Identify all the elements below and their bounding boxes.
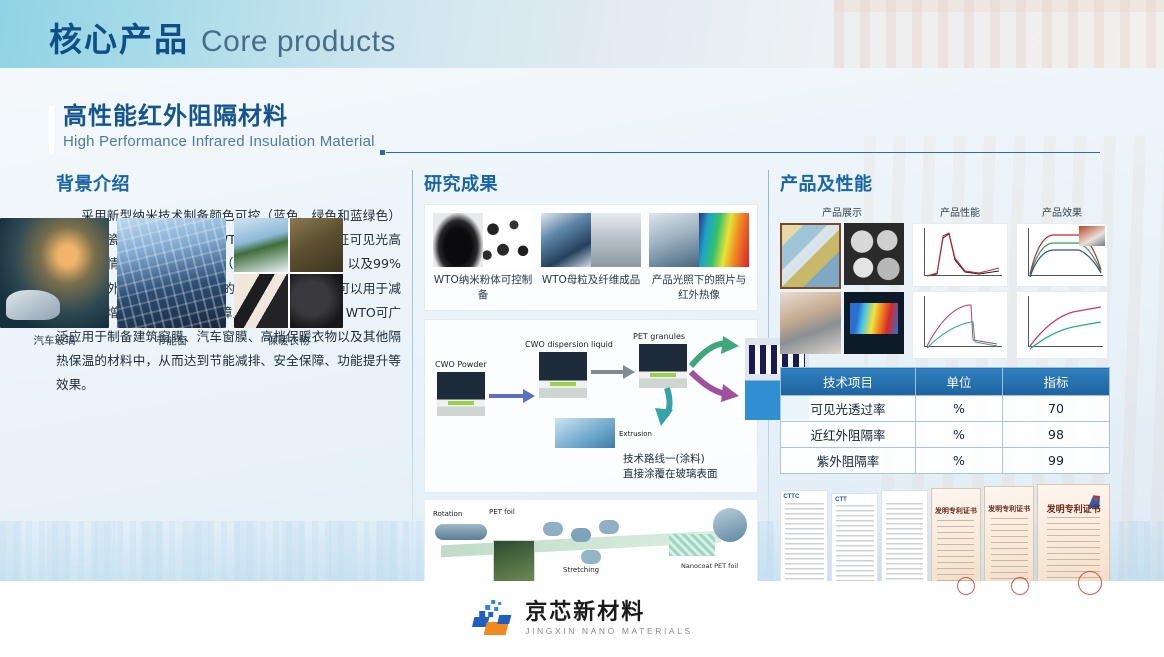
flow-arrow-2	[591, 364, 635, 380]
logo-pixel	[498, 602, 501, 605]
warm-clothing-photo	[234, 218, 343, 328]
logo-text-en: JINGXIN NANO MATERIALS	[525, 626, 693, 636]
sleeve-demo-photo	[780, 292, 841, 354]
right-top-row: 产品展示 产品性能	[780, 204, 1110, 359]
car-glass-photo	[0, 218, 109, 328]
flow-label-pet-granules: PET granules	[633, 332, 685, 341]
header-title-group: 核心产品 Core products	[49, 13, 396, 61]
patent-title: 发明专利证书	[985, 504, 1033, 514]
right-column: 产品及性能 产品展示 产品性能	[780, 170, 1110, 608]
table-cell-value: 99	[1003, 448, 1110, 474]
roller-3	[571, 528, 591, 542]
logo-pixel	[494, 607, 498, 611]
infrared-thermal-thumb	[699, 213, 749, 267]
logo-pixel	[491, 600, 495, 604]
route1-label-group: 技术路线一(涂料) 直接涂覆在玻璃表面	[623, 452, 749, 482]
slide: 核心产品 Core products 高性能红外阻隔材料 High Perfor…	[0, 0, 1164, 657]
logo-mark-icon	[471, 600, 515, 636]
product-effect-block: 产品效果	[1016, 204, 1108, 359]
result-caption: 产品光照下的照片与红外热像	[649, 272, 749, 302]
take-up-roll	[713, 508, 747, 542]
effect-chart-2	[1016, 291, 1108, 359]
result-item-masterbatch: WTO母粒及纤维成品	[541, 213, 641, 302]
table-header-row: 技术项目 单位 指标	[781, 368, 1110, 396]
table-row: 近红外阻隔率 % 98	[781, 422, 1110, 448]
result-caption: WTO母粒及纤维成品	[541, 272, 641, 287]
table-cell-unit: %	[916, 396, 1003, 422]
result-caption: WTO纳米粉体可控制备	[433, 272, 533, 302]
table-cell-item: 紫外阻隔率	[781, 448, 916, 474]
colored-glass-samples-photo	[780, 223, 841, 289]
subcaption-performance: 产品性能	[912, 204, 1008, 219]
clothing-snowboard-thumb	[234, 218, 288, 272]
table-row: 紫外阻隔率 % 99	[781, 448, 1110, 474]
extrusion-photo	[555, 418, 615, 448]
table-row: 可见光透过率 % 70	[781, 396, 1110, 422]
patent-title: 发明专利证书	[1038, 502, 1109, 515]
effect-inset-photo	[1079, 226, 1105, 246]
photo-caption: 节能窗	[117, 333, 226, 348]
route1-subtitle: 直接涂覆在玻璃表面	[623, 468, 718, 480]
clothing-gloves-thumb	[290, 274, 344, 328]
section-title-group: 高性能红外阻隔材料 High Performance Infrared Insu…	[49, 104, 375, 150]
photo-item-car-glass: 汽车玻璃	[0, 218, 109, 348]
flow-label-extrusion: Extrusion	[619, 430, 652, 438]
wto-powder-photo	[433, 213, 533, 267]
table-cell-value: 98	[1003, 422, 1110, 448]
flow-arrow-purple-down	[689, 368, 741, 402]
result-item-powder: WTO纳米粉体可控制备	[433, 213, 533, 302]
research-results-panel: WTO纳米粉体可控制备 WTO母粒及纤维成品 产品光照下的照片与红外热像	[424, 204, 758, 311]
flow-arrow-teal-down	[647, 386, 687, 428]
column-divider-1	[412, 170, 413, 562]
roller-1	[435, 524, 487, 540]
flow-label-nanocoat: Nanocoat PET foil	[681, 562, 738, 570]
roller-4	[599, 520, 619, 534]
flow-label-pet-foil: PET foil	[489, 508, 515, 516]
nanocoat-detail	[669, 534, 715, 556]
official-seal-icon	[1078, 571, 1102, 595]
right-column-heading: 产品及性能	[780, 170, 1110, 196]
fiber-samples-photo	[844, 223, 905, 285]
clothing-legwarmer-thumb	[234, 274, 288, 328]
left-column-heading: 背景介绍	[56, 170, 401, 196]
photo-item-warm-clothing: 保暖衣物	[234, 218, 343, 348]
logo-block-blue-2	[497, 615, 511, 624]
subcaption-effect: 产品效果	[1016, 204, 1108, 219]
table-header-cell: 指标	[1003, 368, 1110, 396]
photo-caption: 汽车玻璃	[0, 333, 109, 348]
fiber-roll-thumb	[591, 213, 641, 267]
flow-label-dispersion: CWO dispersion liquid	[525, 340, 613, 349]
table-cell-value: 70	[1003, 396, 1110, 422]
product-performance-block: 产品性能	[912, 204, 1008, 359]
process-flow-panel: CWO Powder CWO dispersion liquid PET gra…	[424, 319, 758, 493]
flow-arrow-green-up	[689, 336, 741, 370]
section-accent-bar	[49, 106, 54, 154]
header-title-cn: 核心产品	[49, 13, 189, 61]
chart-series-paths	[913, 292, 1008, 358]
left-photo-strip: 汽车玻璃 节能窗 保暖衣物	[0, 218, 345, 348]
roller-5	[581, 550, 601, 564]
flow-label-cwo-powder: CWO Powder	[435, 360, 487, 369]
performance-data-table: 技术项目 单位 指标 可见光透过率 % 70 近红外阻隔率 % 98 紫外阻隔率	[780, 367, 1110, 474]
thermal-camera-photo	[844, 292, 905, 354]
clothing-jacket-thumb	[290, 218, 344, 272]
middle-column-heading: 研究成果	[424, 170, 758, 196]
chart-series-paths	[1017, 292, 1108, 358]
slide-header: 核心产品 Core products	[0, 0, 1164, 68]
table-header-cell: 技术项目	[781, 368, 916, 396]
subcaption-showcase: 产品展示	[780, 204, 904, 219]
table-cell-unit: %	[916, 422, 1003, 448]
roller-2	[543, 522, 563, 536]
wto-masterbatch-photo	[541, 213, 641, 267]
section-divider-rule	[386, 152, 1100, 153]
performance-chart-2	[912, 291, 1008, 359]
film-line-diagram: Rotation PET foil Stretching Nanocoat PE…	[431, 506, 751, 584]
energy-window-photo	[117, 218, 226, 328]
section-title-cn: 高性能红外阻隔材料	[63, 104, 375, 130]
route1-title: 技术路线一(涂料)	[623, 453, 705, 465]
header-watermark-columns	[834, 0, 1164, 68]
table-header-cell: 单位	[916, 368, 1003, 396]
section-title-en: High Performance Infrared Insulation Mat…	[63, 133, 375, 150]
product-showcase-block: 产品展示	[780, 204, 904, 359]
table-cell-unit: %	[916, 448, 1003, 474]
logo-text-group: 京芯新材料 JINGXIN NANO MATERIALS	[525, 601, 693, 636]
powder-dish-thumb	[433, 213, 483, 267]
masterbatch-bag-thumb	[541, 213, 591, 267]
logo-pixel	[485, 605, 490, 610]
cttc-logo: CTTC	[783, 494, 799, 500]
photo-item-energy-window: 节能窗	[117, 218, 226, 348]
chart-series-paths	[913, 224, 1008, 286]
ctt-logo: CTT	[835, 497, 847, 503]
flow-arrow-1	[489, 388, 535, 404]
cwo-dispersion-photo	[539, 352, 587, 398]
visible-light-thumb	[649, 213, 699, 267]
logo-text-cn: 京芯新材料	[525, 601, 693, 623]
table-cell-item: 可见光透过率	[781, 396, 916, 422]
patent-title: 发明专利证书	[932, 506, 980, 516]
cwo-powder-photo	[437, 372, 485, 416]
official-seal-icon	[1011, 577, 1029, 595]
effect-chart-1	[1016, 223, 1108, 287]
pet-granules-photo	[639, 344, 687, 388]
process-flow-diagram: CWO Powder CWO dispersion liquid PET gra…	[433, 330, 749, 450]
table-cell-item: 近红外阻隔率	[781, 422, 916, 448]
photo-caption: 保暖衣物	[234, 333, 343, 348]
thermal-comparison-photo	[649, 213, 749, 267]
powder-sem-thumb	[483, 213, 533, 267]
product-photo-grid	[780, 223, 904, 354]
film-sample-photo	[493, 540, 535, 582]
flow-label-stretching: Stretching	[563, 566, 599, 574]
performance-chart-1	[912, 223, 1008, 287]
company-logo: 京芯新材料 JINGXIN NANO MATERIALS	[471, 600, 693, 636]
header-title-en: Core products	[201, 25, 396, 59]
flow-label-rotation: Rotation	[433, 510, 462, 518]
result-item-thermal: 产品光照下的照片与红外热像	[649, 213, 749, 302]
